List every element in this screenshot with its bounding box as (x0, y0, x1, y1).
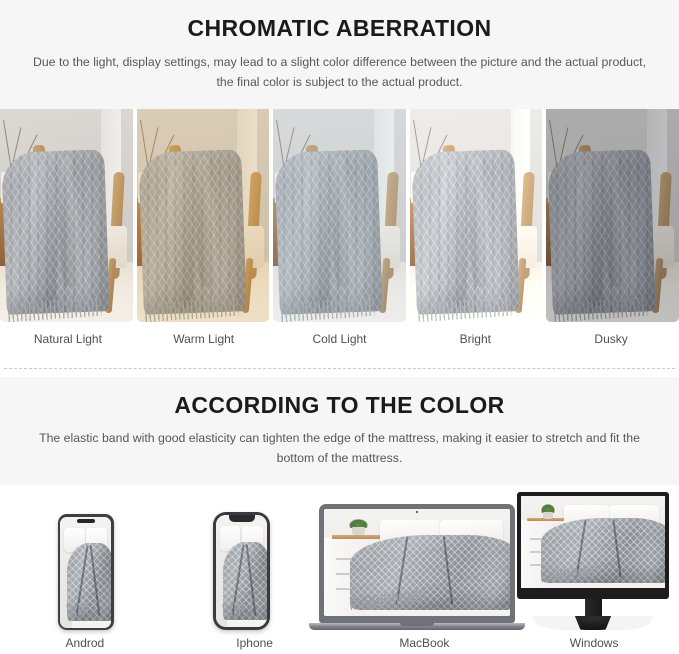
android-phone-mockup[interactable] (58, 514, 114, 630)
monitor-stand-neck (585, 599, 602, 616)
throw-blanket-photo (410, 109, 543, 322)
color-variant-tile[interactable] (546, 109, 679, 322)
device-labels: Androd Iphone MacBook Windows (0, 630, 679, 654)
variant-label-dusky: Dusky (543, 332, 679, 366)
section-title: ACCORDING TO THE COLOR (24, 391, 655, 430)
section-divider (4, 368, 675, 369)
throw-blanket-photo (137, 109, 270, 322)
macbook-mockup[interactable] (319, 504, 515, 630)
camera-notch-icon (77, 519, 95, 523)
device-cell-macbook (319, 491, 515, 630)
device-cell-android (8, 491, 164, 630)
monitor-stand-base (545, 616, 641, 630)
according-to-the-color-description: The elastic band with good elasticity ca… (25, 429, 655, 469)
throw-blanket-photo (546, 109, 679, 322)
bedding-photo (60, 517, 111, 628)
color-variant-tile[interactable] (137, 109, 270, 322)
color-variant-tile[interactable] (273, 109, 406, 322)
windows-monitor-mockup[interactable] (517, 492, 669, 630)
page-title: CHROMATIC ABERRATION (24, 14, 655, 53)
color-variant-tile[interactable] (0, 109, 133, 322)
webcam-icon (416, 511, 418, 513)
according-to-the-color-banner: ACCORDING TO THE COLOR The elastic band … (0, 377, 679, 486)
device-label-windows: Windows (509, 636, 679, 654)
variant-label-bright: Bright (407, 332, 543, 366)
product-infographic: CHROMATIC ABERRATION Due to the light, d… (0, 0, 679, 654)
throw-blanket-photo (273, 109, 406, 322)
variant-label-cold-light: Cold Light (272, 332, 408, 366)
device-preview-gallery (0, 485, 679, 630)
bedding-photo (324, 509, 510, 616)
device-label-iphone: Iphone (170, 636, 340, 654)
color-variant-tile[interactable] (410, 109, 543, 322)
device-label-macbook: MacBook (340, 636, 510, 654)
color-variant-gallery (0, 109, 679, 322)
chromatic-aberration-description: Due to the light, display settings, may … (25, 53, 655, 93)
device-label-android: Androd (0, 636, 170, 654)
color-variant-labels: Natural Light Warm Light Cold Light Brig… (0, 322, 679, 366)
variant-label-natural-light: Natural Light (0, 332, 136, 366)
device-cell-iphone (164, 491, 320, 630)
variant-label-warm-light: Warm Light (136, 332, 272, 366)
throw-blanket-photo (0, 109, 133, 322)
camera-notch-icon (229, 515, 255, 522)
iphone-mockup[interactable] (213, 512, 270, 630)
device-cell-windows (515, 491, 671, 630)
bedding-photo (216, 515, 267, 627)
bedding-photo (521, 496, 665, 588)
chromatic-aberration-banner: CHROMATIC ABERRATION Due to the light, d… (0, 0, 679, 109)
